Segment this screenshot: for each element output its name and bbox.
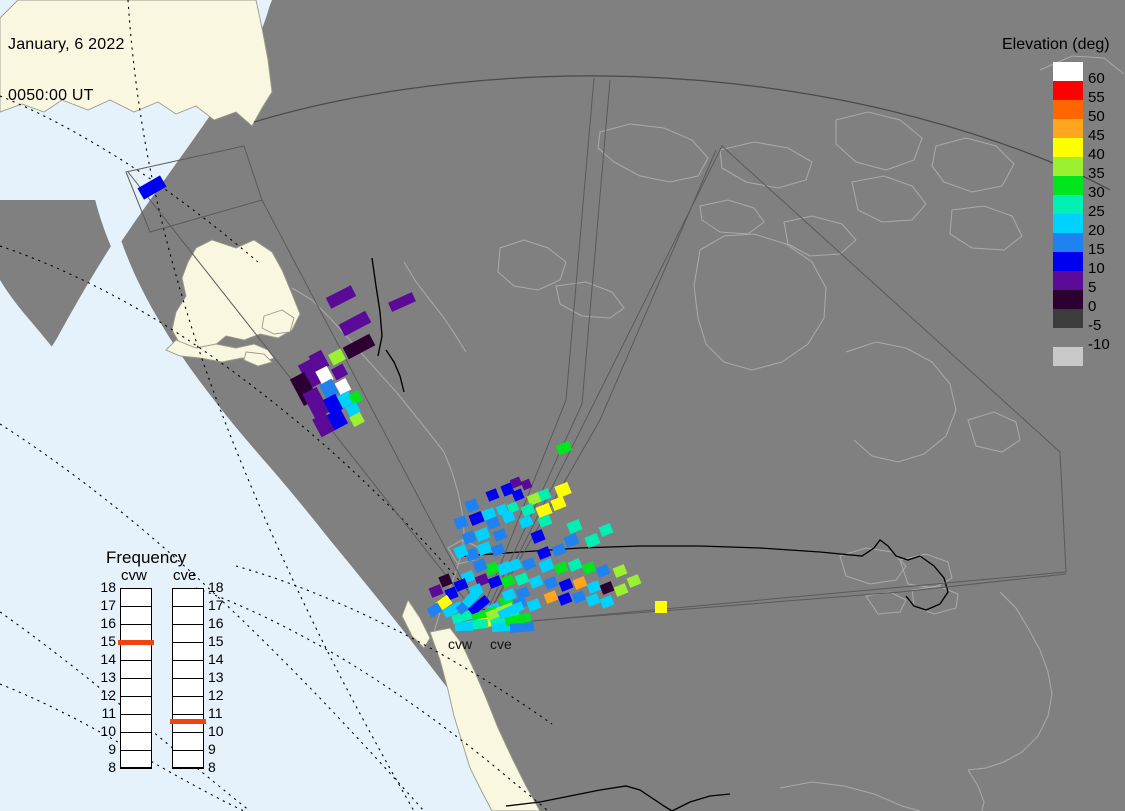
range-gate-cell [521,503,536,517]
colorbar-tick-label: 45 [1088,127,1105,144]
colorbar-tick-label: 25 [1088,203,1105,220]
frequency-tick-label: 16 [208,615,224,631]
backscatter-gate-layer [0,0,1125,811]
range-gate-cell [453,515,468,530]
colorbar-swatch[interactable] [1053,100,1083,119]
frequency-gridline [120,714,152,715]
frequency-channel-name: cvw [121,567,147,584]
frequency-gridline [172,624,204,625]
colorbar-swatch[interactable] [1053,81,1083,100]
range-gate-cell [501,574,516,588]
frequency-tick-label: 17 [208,597,224,613]
frequency-tick-label: 8 [96,759,116,775]
colorbar-swatch[interactable] [1053,119,1083,138]
colorbar-swatch[interactable] [1053,176,1083,195]
colorbar-tick-label: -5 [1088,317,1101,334]
frequency-tick-label: 17 [96,597,116,613]
range-gate-cell [429,584,444,598]
colorbar-swatch[interactable] [1053,271,1083,290]
frequency-tick-label: 10 [96,723,116,739]
range-gate-cell [343,334,376,360]
range-gate-cell [510,622,535,633]
frequency-gridline [120,678,152,679]
range-gate-cell [599,523,614,537]
frequency-gridline [172,606,204,607]
frequency-gridline [120,696,152,697]
colorbar-tick-label: 40 [1088,146,1105,163]
colorbar-tick-label: 35 [1088,165,1105,182]
range-gate-cell [328,348,346,365]
range-gate-cell [573,576,588,590]
frequency-tick-label: 12 [96,687,116,703]
range-gate-cell [566,519,582,534]
timestamp-block: January, 6 2022 0050:00 UT [8,2,125,138]
colorbar-swatch[interactable] [1053,214,1083,233]
range-gate-cell [339,311,372,337]
range-gate-cell [559,578,574,592]
frequency-channel-name: cve [173,567,196,584]
range-gate-cell [596,564,611,578]
frequency-gridline [120,732,152,733]
range-gate-cell [530,529,545,544]
frequency-gridline [120,660,152,661]
frequency-tick-label: 14 [208,651,224,667]
range-gate-cell [554,482,571,498]
range-gate-cell [600,595,615,609]
range-gate-cell [521,479,533,491]
colorbar-swatch[interactable] [1053,138,1083,157]
range-gate-cell [550,496,566,511]
range-gate-cell [600,581,615,595]
colorbar-tick-label: 50 [1088,108,1105,125]
colorbar-swatch[interactable] [1053,252,1083,271]
range-gate-cell [627,574,642,588]
range-gate-cell [582,561,597,575]
frequency-gridline [172,750,204,751]
range-gate-cell [655,601,667,613]
frequency-tick-label: 11 [208,705,223,721]
range-gate-cell [613,564,628,578]
range-gate-cell [438,573,452,587]
range-gate-cell [468,511,484,526]
range-gate-cell [491,543,506,557]
radar-map-figure: January, 6 2022 0050:00 UT Elevation (de… [0,0,1125,811]
colorbar-tick-label: -10 [1088,336,1110,353]
range-gate-cell [563,533,579,548]
frequency-gridline [120,606,152,607]
range-gate-cell [558,592,573,606]
frequency-gridline [172,714,204,715]
range-gate-cell [474,527,490,542]
range-gate-cell [461,530,476,545]
frequency-tick-label: 18 [96,579,116,595]
range-gate-cell [493,528,508,542]
frequency-tick-label: 10 [208,723,224,739]
frequency-marker [118,640,154,645]
frequency-gridline [172,678,204,679]
colorbar-tick-label: 15 [1088,241,1105,258]
range-gate-cell [584,533,600,548]
range-gate-cell [544,576,559,590]
frequency-tick-label: 15 [96,633,116,649]
frequency-gridline [172,732,204,733]
range-gate-cell [527,598,542,612]
range-gate-cell [614,583,629,597]
frequency-gridline [120,624,152,625]
frequency-gridline [172,696,204,697]
range-gate-cell [486,488,500,501]
range-gate-cell [515,572,530,586]
frequency-tick-label: 14 [96,651,116,667]
range-gate-cell [572,590,587,604]
map-site-label-cvw: cvw [448,636,472,652]
frequency-tick-label: 13 [208,669,224,685]
colorbar-tick-label: 20 [1088,222,1105,239]
frequency-gridline [172,660,204,661]
range-gate-cell [516,586,531,600]
frequency-tick-label: 9 [96,741,116,757]
colorbar-tick-label: 30 [1088,184,1105,201]
colorbar-swatch[interactable] [1053,233,1083,252]
colorbar-swatch[interactable] [1053,328,1083,347]
range-gate-cell [137,175,166,199]
colorbar-tick-label: 55 [1088,89,1105,106]
range-gate-cell [455,622,473,632]
range-gate-cell [535,503,552,518]
colorbar-tick-label: 0 [1088,298,1096,315]
frequency-gridline [120,750,152,751]
range-gate-cell [326,285,356,308]
range-gate-cell [331,364,348,381]
range-gate-cell [554,561,569,575]
frequency-marker [170,719,206,724]
range-gate-cell [537,546,552,560]
frequency-tick-label: 13 [96,669,116,685]
frequency-tick-label: 15 [208,633,224,649]
frequency-tick-label: 16 [96,615,116,631]
frequency-gridline [120,768,152,769]
frequency-gridline [172,768,204,769]
frequency-tick-label: 8 [208,759,216,775]
range-gate-cell [488,575,503,589]
colorbar-swatch[interactable] [1053,309,1083,328]
frequency-tick-label: 18 [208,579,224,595]
elevation-colorbar[interactable] [1053,62,1083,366]
range-gate-cell [552,543,567,557]
map-site-label-cve: cve [490,636,512,652]
range-gate-cell [568,558,583,572]
colorbar-swatch[interactable] [1053,290,1083,309]
frequency-legend-title: Frequency [106,548,186,568]
range-gate-cell [556,441,573,456]
range-gate-cell [544,590,559,604]
frequency-tick-label: 9 [208,741,216,757]
range-gate-cell [388,292,416,312]
range-gate-cell [586,593,601,607]
colorbar-tick-label: 10 [1088,260,1105,277]
frequency-tick-label: 12 [208,687,224,703]
title-date: January, 6 2022 [8,36,125,53]
title-time: 0050:00 UT [8,87,125,104]
colorbar-swatch[interactable] [1053,195,1083,214]
frequency-tick-label: 11 [96,705,116,721]
range-gate-cell [519,515,534,529]
range-gate-cell [529,575,544,589]
colorbar-tick-label: 60 [1088,70,1105,87]
range-gate-cell [587,580,602,594]
colorbar-swatch[interactable] [1053,347,1083,366]
range-gate-cell [472,558,487,573]
range-gate-cell [476,541,492,556]
colorbar-title: Elevation (deg) [1002,36,1110,54]
range-gate-cell [453,544,468,559]
range-gate-cell [464,498,479,513]
frequency-gridline [172,642,204,643]
colorbar-swatch[interactable] [1053,157,1083,176]
colorbar-swatch[interactable] [1053,62,1083,81]
range-gate-cell [538,558,554,573]
colorbar-tick-label: 5 [1088,279,1096,296]
range-gate-cell [522,557,537,571]
